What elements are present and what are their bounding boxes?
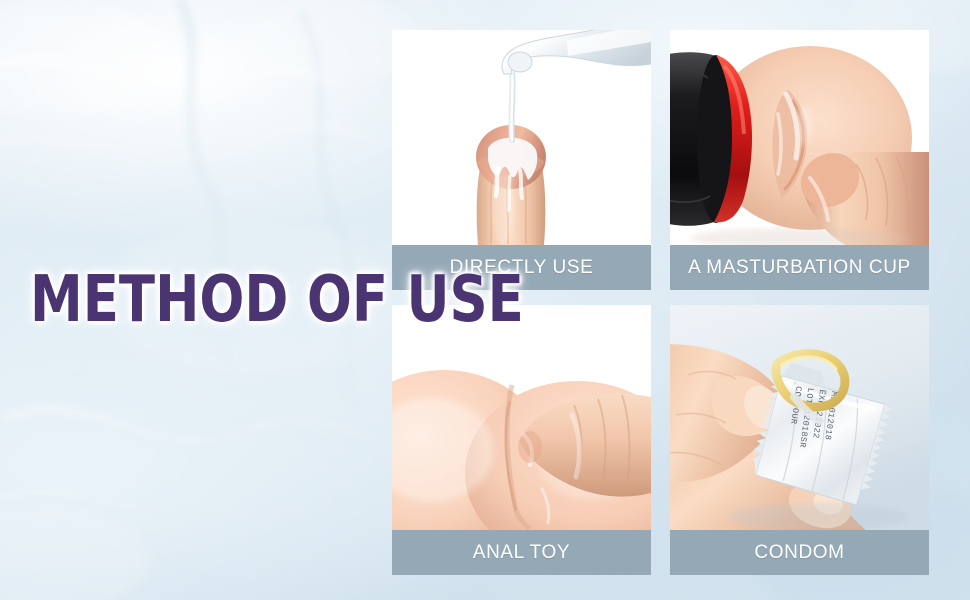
panel-condom[interactable]: MFG012018 EXP122022 LOT012018SR CONTOUR …: [670, 305, 929, 575]
caption-masturbation-cup: A MASTURBATION CUP: [670, 245, 929, 290]
condom-wrapper-illustration: MFG012018 EXP122022 LOT012018SR CONTOUR: [670, 305, 929, 530]
photo-masturbation-cup: [670, 30, 929, 245]
panel-anal-toy[interactable]: ANAL TOY: [392, 305, 651, 575]
masturbation-cup-illustration: [670, 30, 929, 245]
photo-anal-toy: [392, 305, 651, 530]
title-area: METHOD OF USE: [0, 0, 392, 600]
caption-anal-toy: ANAL TOY: [392, 530, 651, 575]
lubricant-application-illustration: [392, 30, 651, 245]
anal-toy-illustration: [392, 305, 651, 530]
page-title: METHOD OF USE: [30, 268, 524, 332]
photo-condom: MFG012018 EXP122022 LOT012018SR CONTOUR: [670, 305, 929, 530]
caption-condom: CONDOM: [670, 530, 929, 575]
panel-masturbation-cup[interactable]: A MASTURBATION CUP: [670, 30, 929, 290]
photo-directly-use: [392, 30, 651, 245]
panel-directly-use[interactable]: DIRECTLY USE: [392, 30, 651, 290]
